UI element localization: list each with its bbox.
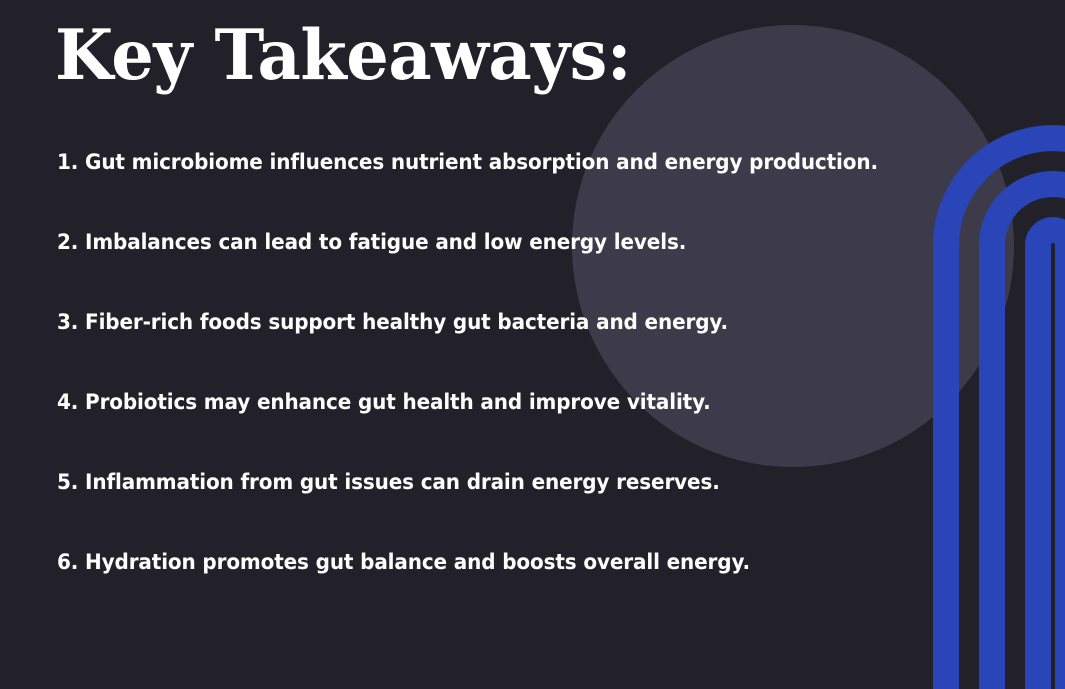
takeaway-text-6: 6. Hydration promotes gut balance and bo… [57, 552, 750, 574]
takeaway-text-1: 1. Gut microbiome influences nutrient ab… [57, 152, 878, 174]
takeaway-text-5: 5. Inflammation from gut issues can drai… [57, 472, 720, 494]
takeaway-text-4: 4. Probiotics may enhance gut health and… [57, 392, 711, 414]
list-item: 4. Probiotics may enhance gut health and… [57, 392, 864, 472]
list-item: 3. Fiber-rich foods support healthy gut … [57, 312, 864, 392]
page-title: Key Takeaways: [55, 21, 631, 90]
list-item: 6. Hydration promotes gut balance and bo… [57, 552, 864, 632]
takeaways-list: 1. Gut microbiome influences nutrient ab… [57, 152, 925, 632]
list-item: 5. Inflammation from gut issues can drai… [57, 472, 864, 552]
list-item: 2. Imbalances can lead to fatigue and lo… [57, 232, 864, 312]
list-item: 1. Gut microbiome influences nutrient ab… [57, 152, 864, 232]
slide-content: Key Takeaways: 1. Gut microbiome influen… [0, 0, 1065, 689]
takeaway-text-2: 2. Imbalances can lead to fatigue and lo… [57, 232, 686, 254]
slide-canvas: Key Takeaways: 1. Gut microbiome influen… [0, 0, 1065, 689]
takeaway-text-3: 3. Fiber-rich foods support healthy gut … [57, 312, 728, 334]
